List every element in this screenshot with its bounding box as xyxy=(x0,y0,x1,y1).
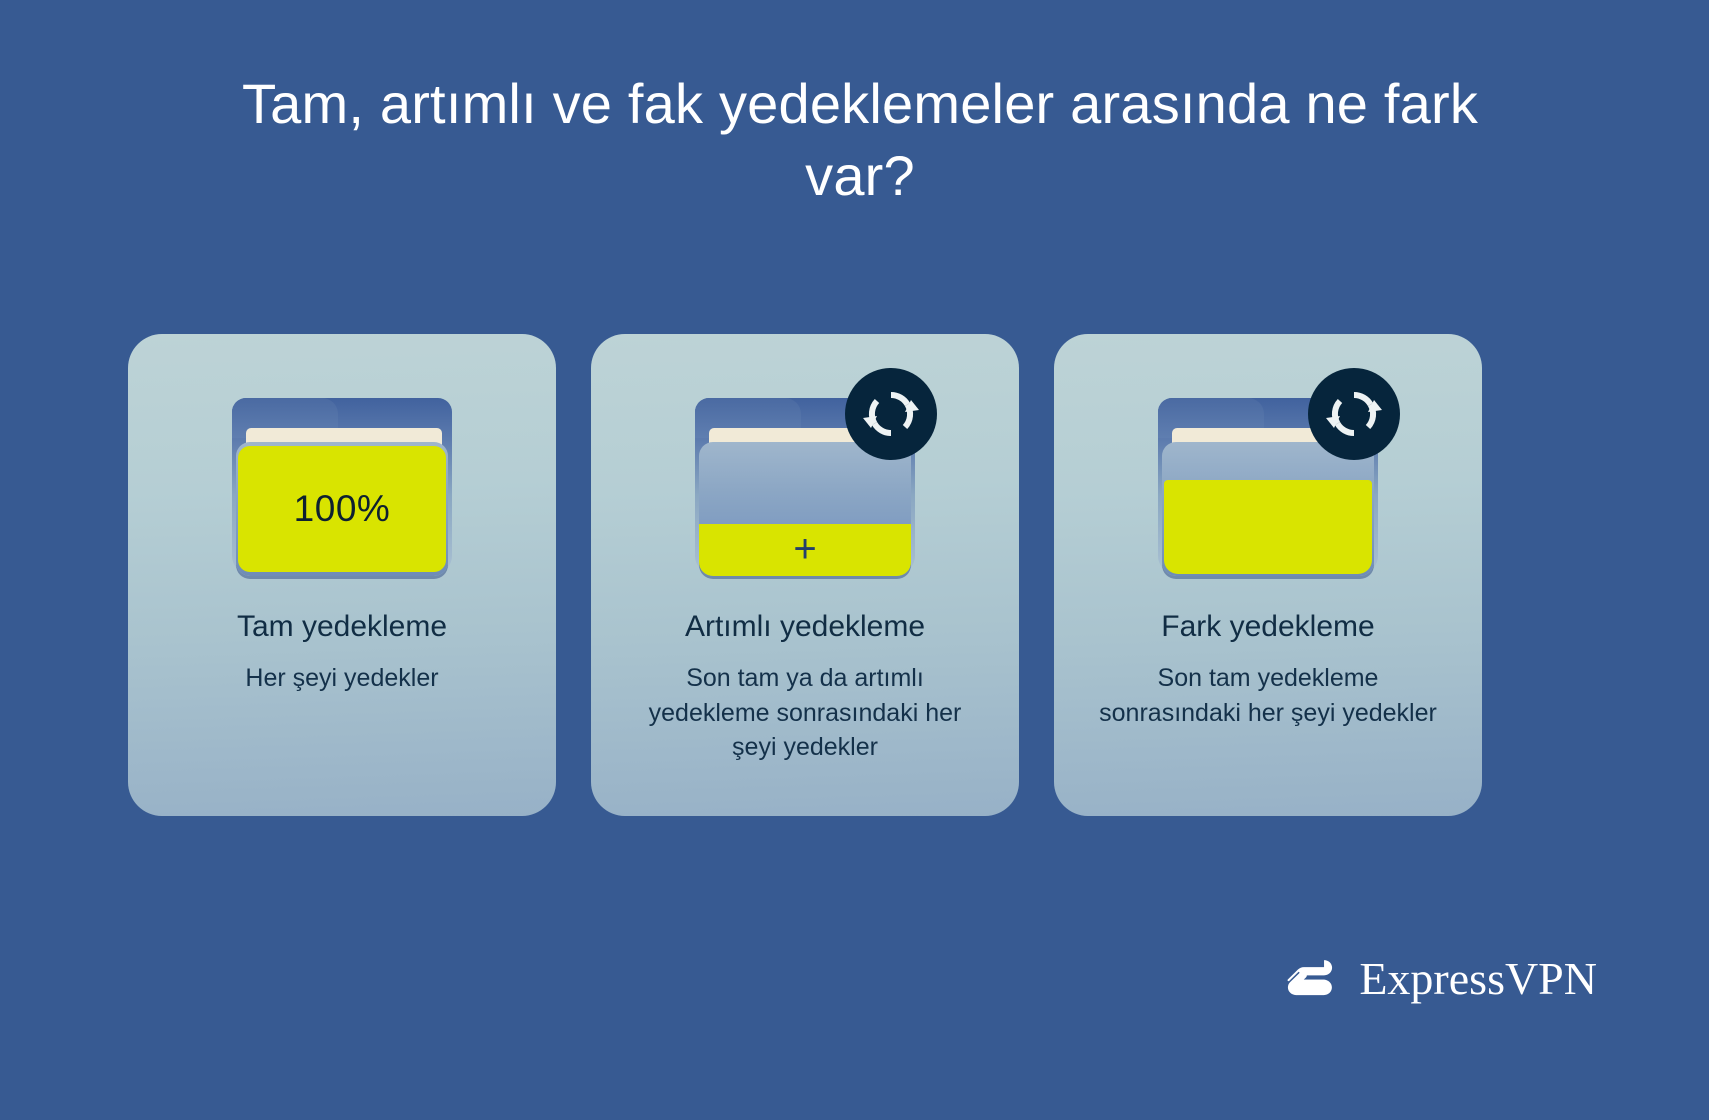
sync-icon xyxy=(1308,368,1400,460)
card-description-differential-backup: Son tam yedekleme sonrasındaki her şeyi … xyxy=(1088,661,1448,730)
folder-fill-level: + xyxy=(699,524,911,576)
card-title-incremental-backup: Artımlı yedekleme xyxy=(685,609,925,645)
sync-icon xyxy=(845,368,937,460)
plus-label: + xyxy=(793,529,816,569)
expressvpn-logo: ExpressVPN xyxy=(1279,948,1597,1010)
backup-types-row: 100% Tam yedekleme Her şeyi yedekler + xyxy=(128,334,1482,816)
folder-icon: 100% xyxy=(232,398,452,584)
expressvpn-e-mark xyxy=(1279,948,1341,1010)
fill-percent-label: 100% xyxy=(294,488,391,530)
folder-fill-level: 100% xyxy=(238,446,446,572)
card-description-full-backup: Her şeyi yedekler xyxy=(245,661,438,696)
folder-illustration-full: 100% xyxy=(222,382,462,587)
expressvpn-wordmark: ExpressVPN xyxy=(1359,956,1597,1002)
card-title-differential-backup: Fark yedekleme xyxy=(1161,609,1374,645)
card-incremental-backup: + Artımlı yedekleme Son tam ya da artıml… xyxy=(591,334,1019,816)
page-title: Tam, artımlı ve fak yedeklemeler arasınd… xyxy=(180,68,1540,211)
folder-fill-level xyxy=(1164,480,1372,574)
card-description-incremental-backup: Son tam ya da artımlı yedekleme sonrasın… xyxy=(625,661,985,765)
folder-illustration-differential xyxy=(1148,382,1388,587)
folder-illustration-incremental: + xyxy=(685,382,925,587)
card-differential-backup: Fark yedekleme Son tam yedekleme sonrası… xyxy=(1054,334,1482,816)
card-full-backup: 100% Tam yedekleme Her şeyi yedekler xyxy=(128,334,556,816)
card-title-full-backup: Tam yedekleme xyxy=(237,609,447,645)
